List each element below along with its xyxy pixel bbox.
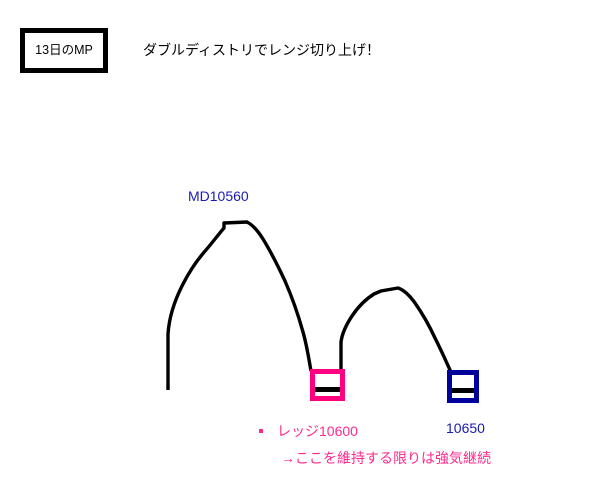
date-badge-label: 13日のMP	[25, 33, 103, 68]
ledge-marker-box[interactable]	[310, 369, 345, 401]
chart-canvas: 13日のMP ダブルディストリでレンジ切り上げ！ MD10560 レッジ1060…	[0, 0, 606, 502]
second-hump-path	[341, 288, 455, 388]
bullet-dot-icon	[259, 429, 263, 433]
ledge-marker-bar	[315, 387, 340, 392]
resistance-marker-box[interactable]	[447, 370, 479, 403]
resistance-label: 10650	[446, 420, 485, 436]
ledge-label: レッジ10600	[277, 421, 358, 441]
headline-text: ダブルディストリでレンジ切り上げ！	[143, 40, 380, 60]
comment-label: →ここを維持する限りは強気継続	[281, 448, 491, 468]
resistance-marker-bar	[452, 388, 474, 393]
first-hump-path	[168, 222, 311, 390]
date-badge: 13日のMP	[20, 28, 108, 73]
peak-label: MD10560	[188, 188, 249, 204]
